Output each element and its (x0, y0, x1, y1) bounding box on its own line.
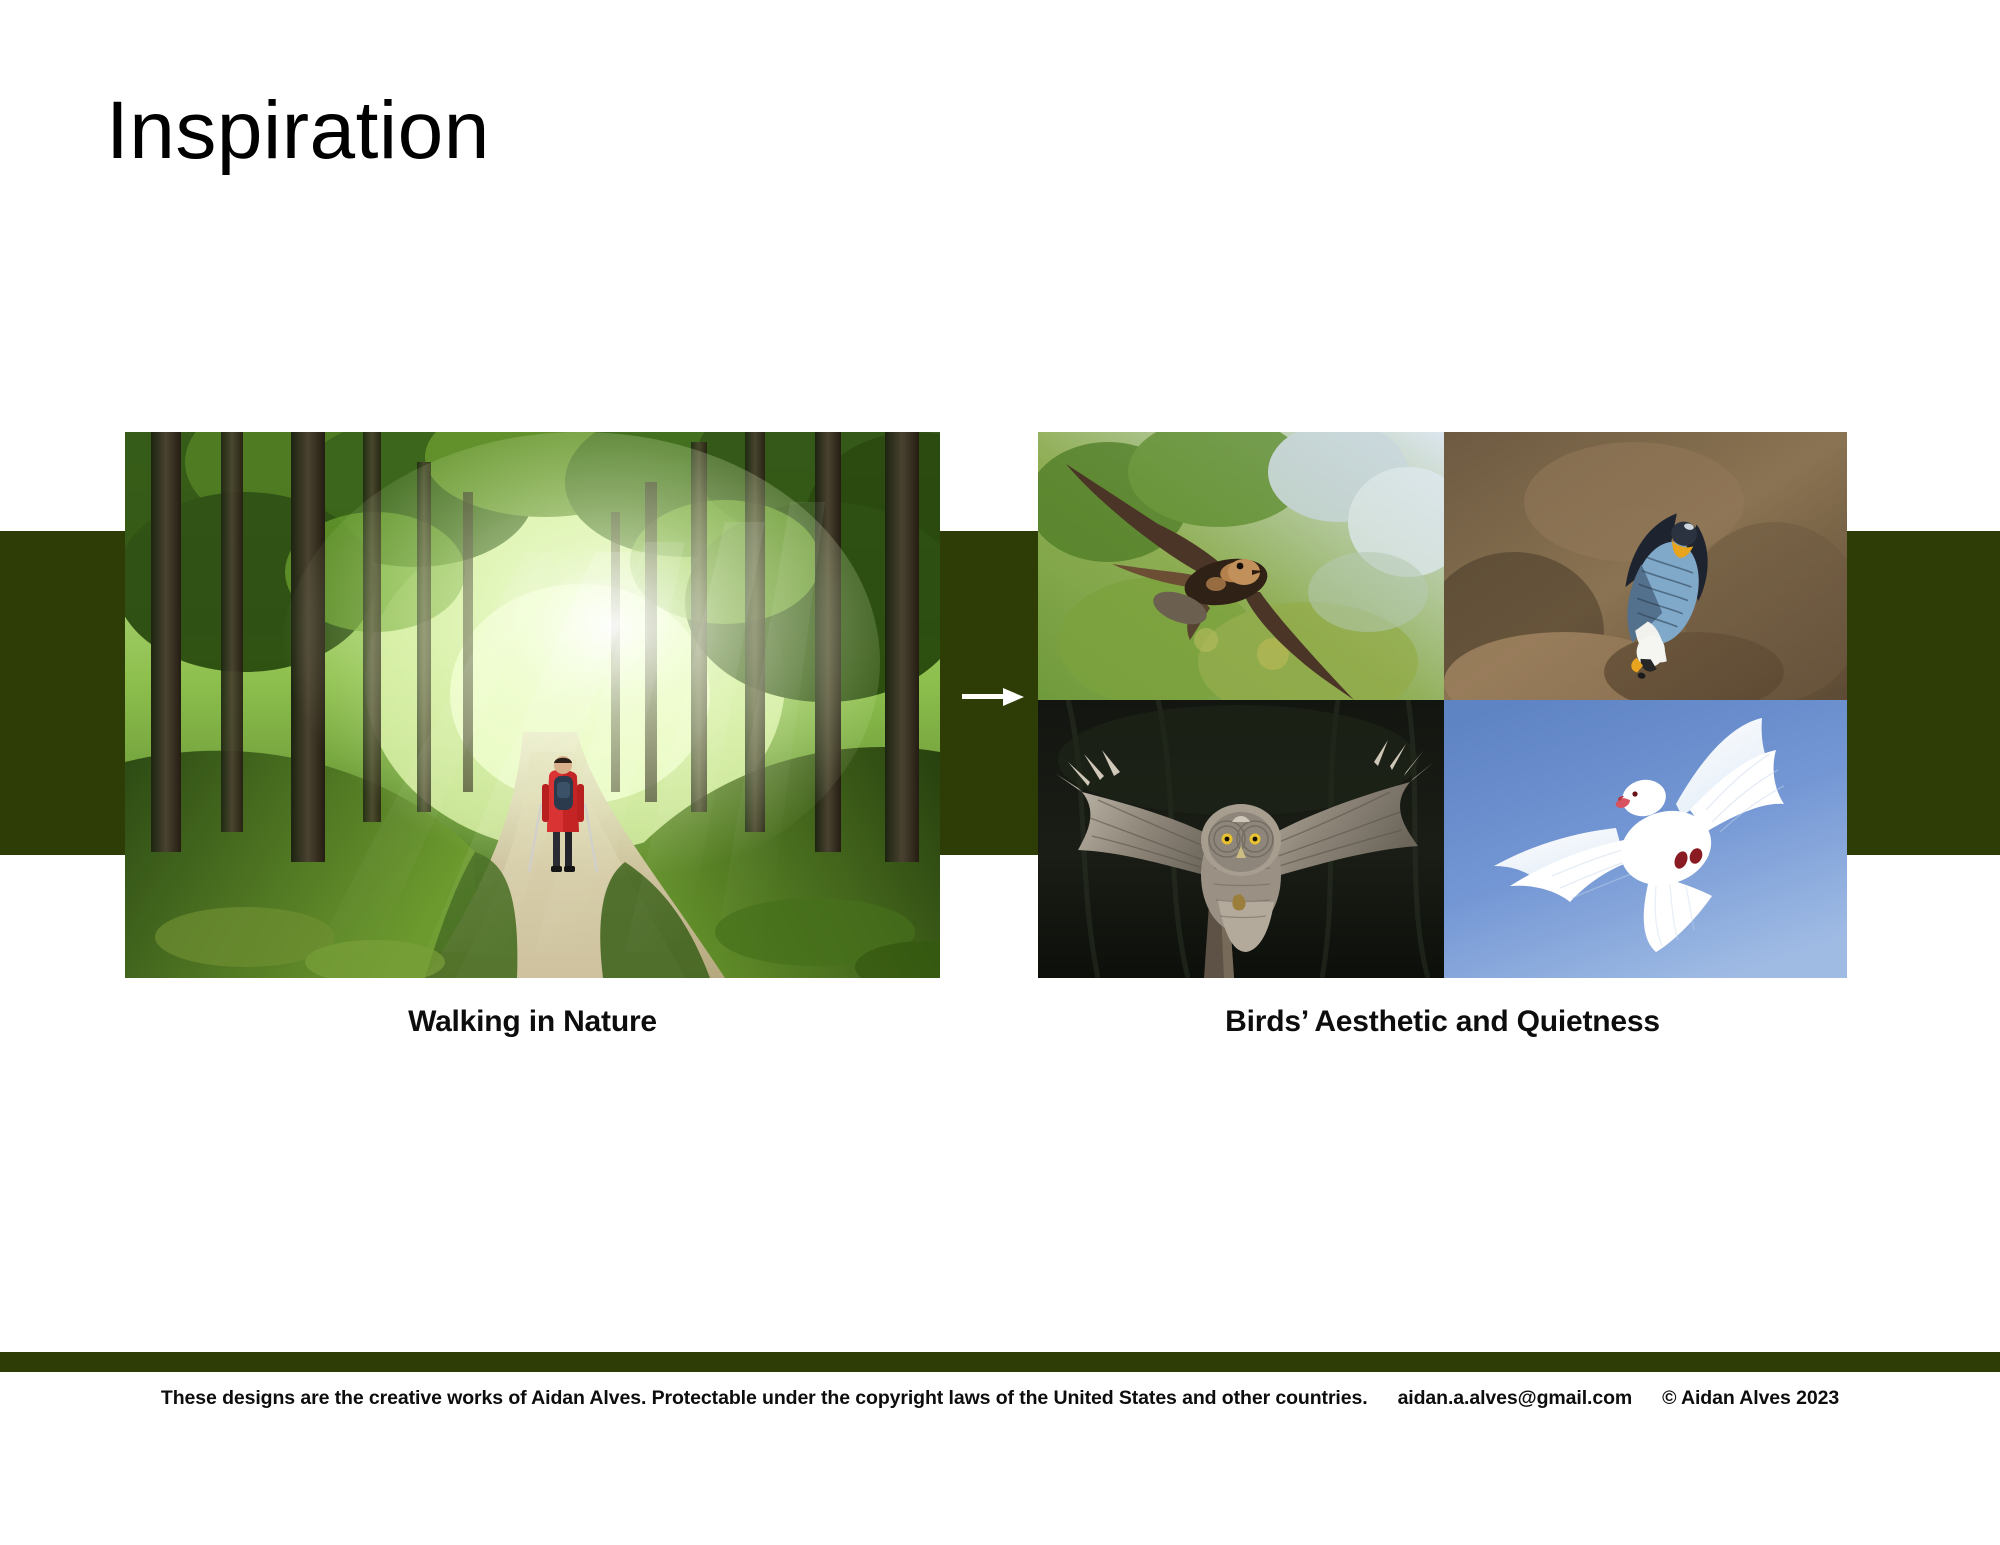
bird-photo-grid (1038, 432, 1847, 978)
footer-accent-stripe (0, 1352, 2000, 1372)
caption-left: Walking in Nature (125, 1005, 940, 1039)
arrow-right-icon (962, 681, 1024, 713)
peregrine-falcon-photo (1444, 432, 1847, 700)
white-dove-photo (1444, 700, 1847, 978)
slide-canvas: Inspiration (0, 0, 2000, 1545)
forest-path-photo (125, 432, 940, 978)
arrow-right-icon-svg (962, 681, 1024, 713)
forest-path-photo-illustration (125, 432, 940, 978)
great-grey-owl-photo (1038, 700, 1444, 978)
footer-email[interactable]: aidan.a.alves@gmail.com (1398, 1387, 1633, 1410)
footer: These designs are the creative works of … (0, 1378, 2000, 1418)
swift-in-flight-photo (1038, 432, 1444, 700)
footer-copyright-notice: These designs are the creative works of … (161, 1387, 1368, 1410)
footer-copyright-line: © Aidan Alves 2023 (1662, 1387, 1839, 1410)
caption-right: Birds’ Aesthetic and Quietness (1038, 1005, 1847, 1039)
page-title: Inspiration (106, 88, 490, 174)
